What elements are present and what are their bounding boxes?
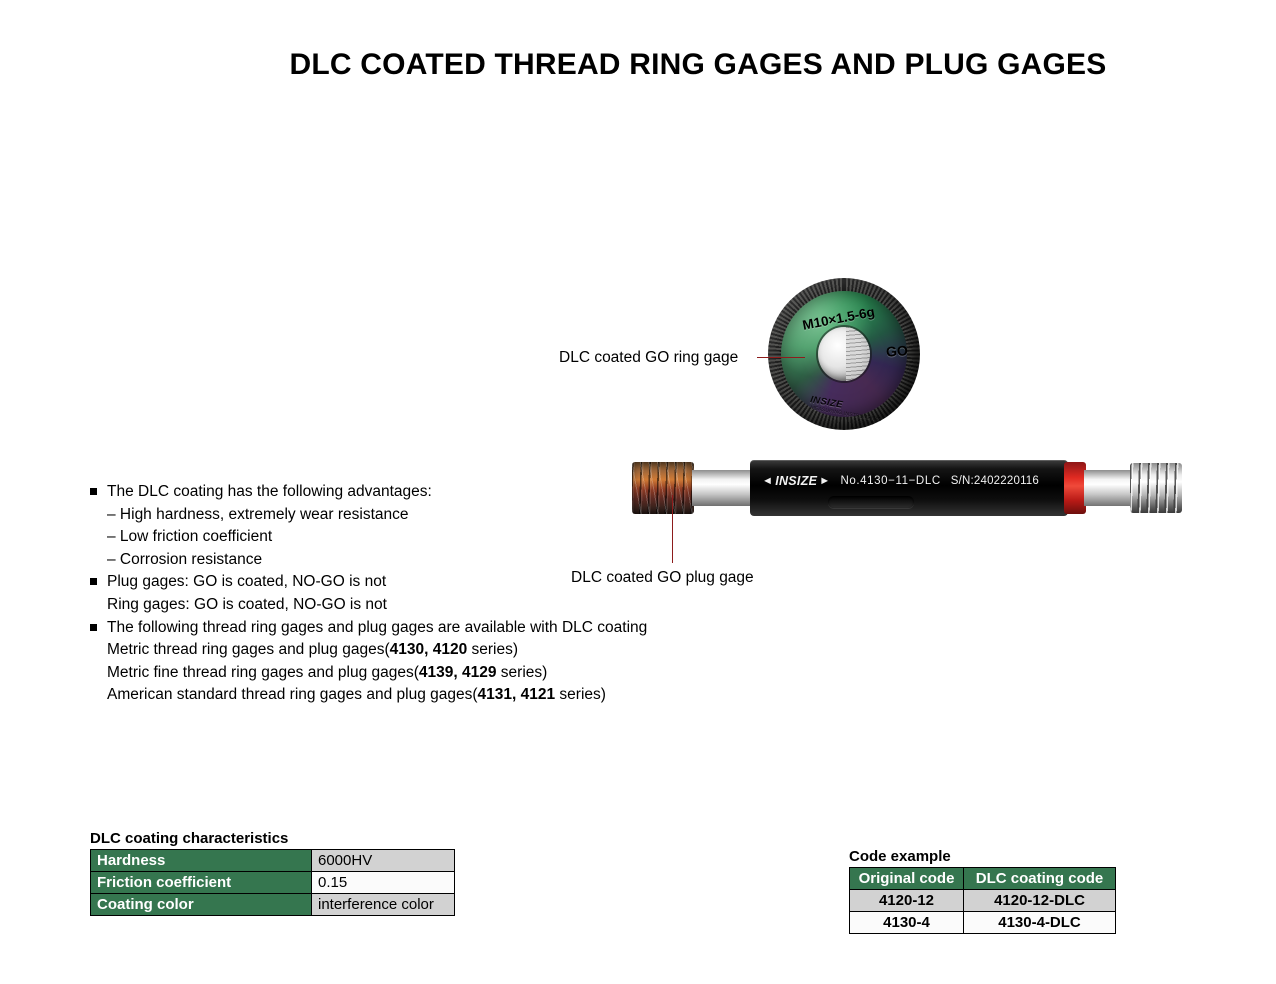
code-original-4130-4: 4130-4 bbox=[850, 912, 964, 934]
code-example-table: Original code DLC coating code 4120-12 4… bbox=[849, 867, 1116, 934]
table-row: 4120-12 4120-12-DLC bbox=[850, 890, 1116, 912]
code-dlc-4120-12: 4120-12-DLC bbox=[964, 890, 1116, 912]
char-label-coating-color: Coating color bbox=[91, 894, 312, 916]
series-line-american-post: series) bbox=[555, 686, 606, 703]
plug-gage-nogo-shank bbox=[1084, 470, 1134, 506]
series-line-metric-post: series) bbox=[467, 641, 518, 658]
feature-bullet-advantages: The DLC coating has the following advant… bbox=[90, 481, 730, 504]
table-row: 4130-4 4130-4-DLC bbox=[850, 912, 1116, 934]
series-line-metric-codes: 4130, 4120 bbox=[390, 641, 468, 658]
bullet-square-icon bbox=[90, 571, 107, 593]
series-line-metric-pre: Metric thread ring gages and plug gages( bbox=[107, 641, 390, 658]
feature-bullet-availability: The following thread ring gages and plug… bbox=[90, 617, 730, 640]
code-example-caption: Code example bbox=[849, 848, 1116, 865]
table-row: Friction coefficient 0.15 bbox=[91, 872, 455, 894]
feature-bullet-availability-text: The following thread ring gages and plug… bbox=[107, 617, 730, 640]
series-line-metric-fine-pre: Metric fine thread ring gages and plug g… bbox=[107, 664, 419, 681]
bullet-square-icon bbox=[90, 481, 107, 503]
code-header-dlc: DLC coating code bbox=[964, 868, 1116, 890]
datasheet-page: DLC COATED THREAD RING GAGES AND PLUG GA… bbox=[0, 0, 1276, 984]
code-dlc-4130-4: 4130-4-DLC bbox=[964, 912, 1116, 934]
bullet-square-icon bbox=[90, 617, 107, 639]
plug-gage-nogo-uncoated-thread bbox=[1130, 463, 1182, 513]
plug-gage-handle-markings: ◄ INSIZE ► No.4130−11−DLC S/N:2402220116 bbox=[762, 470, 1062, 492]
feature-bullet-plug-gages: Plug gages: GO is coated, NO-GO is not bbox=[90, 571, 730, 594]
arrow-right-icon: ► bbox=[819, 475, 830, 487]
series-line-metric: Metric thread ring gages and plug gages(… bbox=[90, 639, 730, 662]
series-line-american-codes: 4131, 4121 bbox=[478, 686, 556, 703]
series-line-metric-fine: Metric fine thread ring gages and plug g… bbox=[90, 662, 730, 685]
table-header-row: Original code DLC coating code bbox=[850, 868, 1116, 890]
code-example-table-block: Code example Original code DLC coating c… bbox=[849, 848, 1116, 934]
code-header-original: Original code bbox=[850, 868, 964, 890]
plug-gage-model-number: No.4130−11−DLC bbox=[840, 475, 940, 487]
series-line-american-pre: American standard thread ring gages and … bbox=[107, 686, 478, 703]
feature-bullet-advantages-text: The DLC coating has the following advant… bbox=[107, 481, 730, 504]
char-label-friction: Friction coefficient bbox=[91, 872, 312, 894]
dlc-characteristics-caption: DLC coating characteristics bbox=[90, 830, 455, 847]
ring-gage-image: M10×1.5-6g GO INSIZE MEASURING INSTRUMEN… bbox=[768, 278, 920, 430]
plug-gage-handle-slot bbox=[828, 496, 914, 508]
ring-gage-go-marking: GO bbox=[886, 342, 909, 359]
dlc-characteristics-table-block: DLC coating characteristics Hardness 600… bbox=[90, 830, 455, 916]
feature-subitem-ring-gages: Ring gages: GO is coated, NO-GO is not bbox=[90, 594, 730, 617]
insize-logo: ◄ INSIZE ► bbox=[762, 474, 830, 488]
series-line-metric-fine-post: series) bbox=[497, 664, 548, 681]
char-label-hardness: Hardness bbox=[91, 850, 312, 872]
table-row: Coating color interference color bbox=[91, 894, 455, 916]
feature-subitem-hardness: – High hardness, extremely wear resistan… bbox=[90, 504, 730, 527]
feature-subitem-corrosion: – Corrosion resistance bbox=[90, 549, 730, 572]
ring-gage-callout-label: DLC coated GO ring gage bbox=[559, 349, 738, 367]
page-title: DLC COATED THREAD RING GAGES AND PLUG GA… bbox=[0, 48, 1276, 82]
dlc-characteristics-table: Hardness 6000HV Friction coefficient 0.1… bbox=[90, 849, 455, 916]
char-value-hardness: 6000HV bbox=[312, 850, 455, 872]
insize-wordmark: INSIZE bbox=[775, 474, 817, 488]
feature-subitem-friction: – Low friction coefficient bbox=[90, 526, 730, 549]
series-line-metric-fine-codes: 4139, 4129 bbox=[419, 664, 497, 681]
series-line-american: American standard thread ring gages and … bbox=[90, 684, 730, 707]
ring-gage-leader-line bbox=[757, 357, 805, 358]
char-value-coating-color: interference color bbox=[312, 894, 455, 916]
plug-gage-red-collar bbox=[1064, 462, 1086, 514]
feature-list: The DLC coating has the following advant… bbox=[90, 481, 730, 707]
table-row: Hardness 6000HV bbox=[91, 850, 455, 872]
char-value-friction: 0.15 bbox=[312, 872, 455, 894]
arrow-left-icon: ◄ bbox=[762, 475, 773, 487]
code-original-4120-12: 4120-12 bbox=[850, 890, 964, 912]
plug-gage-serial-number: S/N:2402220116 bbox=[951, 475, 1039, 487]
ring-gage-threaded-bore bbox=[818, 327, 870, 381]
feature-bullet-plug-gages-text: Plug gages: GO is coated, NO-GO is not bbox=[107, 571, 730, 594]
